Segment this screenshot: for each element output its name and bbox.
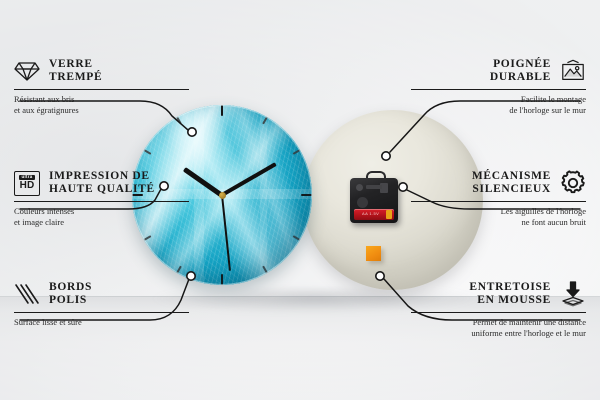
mechanism-dial-small — [356, 184, 363, 191]
feature-impression-haute-qualite[interactable]: ultra HD IMPRESSION DEHAUTE QUALITÉ Coul… — [14, 170, 189, 227]
diamond-icon — [14, 58, 40, 84]
feature-divider — [411, 201, 586, 202]
wall-frame-hanger-icon — [560, 58, 586, 84]
feature-description: Les aiguilles de l'horlogene font aucun … — [411, 206, 586, 227]
feature-title: ENTRETOISEEN MOUSSE — [469, 281, 551, 307]
mechanism-ridge — [366, 185, 382, 189]
mechanism-dial-large — [357, 197, 368, 208]
foam-spacer — [366, 246, 381, 261]
feature-bords-polis[interactable]: BORDSPOLIS Surface lisse et sûre — [14, 281, 189, 328]
feature-title: VERRETREMPÉ — [49, 58, 102, 84]
battery: AA 1.5V — [354, 209, 394, 220]
feature-entretoise-en-mousse[interactable]: ENTRETOISEEN MOUSSE Permet de maintenir … — [411, 281, 586, 338]
battery-positive-terminal — [386, 210, 392, 219]
feature-divider — [14, 312, 189, 313]
feature-header: BORDSPOLIS — [14, 281, 189, 307]
feature-poignee-durable[interactable]: POIGNÉEDURABLE Facilite le montagede l'h… — [411, 58, 586, 115]
feature-verre-trempe[interactable]: VERRETREMPÉ Résistant aux briset aux égr… — [14, 58, 189, 115]
feature-mecanisme-silencieux[interactable]: MÉCANISMESILENCIEUX Les aiguilles de l'h… — [411, 170, 586, 227]
feature-description: Permet de maintenir une distanceuniforme… — [411, 317, 586, 338]
feature-header: VERRETREMPÉ — [14, 58, 189, 84]
feature-divider — [411, 312, 586, 313]
feature-description: Surface lisse et sûre — [14, 317, 189, 328]
feature-description: Facilite le montagede l'horloge sur le m… — [411, 94, 586, 115]
feature-header: POIGNÉEDURABLE — [411, 58, 586, 84]
gear-icon — [560, 170, 586, 196]
battery-label: AA 1.5V — [362, 211, 379, 216]
foam-spacer-arrow-icon — [560, 281, 586, 307]
infographic-canvas: AA 1.5V — [0, 0, 600, 400]
feature-header: ENTRETOISEEN MOUSSE — [411, 281, 586, 307]
feature-title: POIGNÉEDURABLE — [490, 58, 551, 84]
feature-description: Résistant aux briset aux égratignures — [14, 94, 189, 115]
feature-description: Couleurs intenseset image claire — [14, 206, 189, 227]
feature-divider — [14, 89, 189, 90]
polished-edges-icon — [14, 281, 40, 307]
ultra-hd-icon: ultra HD — [14, 170, 40, 196]
feature-title: IMPRESSION DEHAUTE QUALITÉ — [49, 170, 155, 196]
feature-title: BORDSPOLIS — [49, 281, 92, 307]
feature-title: MÉCANISMESILENCIEUX — [472, 170, 551, 196]
feature-divider — [14, 201, 189, 202]
feature-divider — [411, 89, 586, 90]
quartz-mechanism: AA 1.5V — [350, 178, 398, 223]
feature-header: MÉCANISMESILENCIEUX — [411, 170, 586, 196]
feature-header: ultra HD IMPRESSION DEHAUTE QUALITÉ — [14, 170, 189, 196]
